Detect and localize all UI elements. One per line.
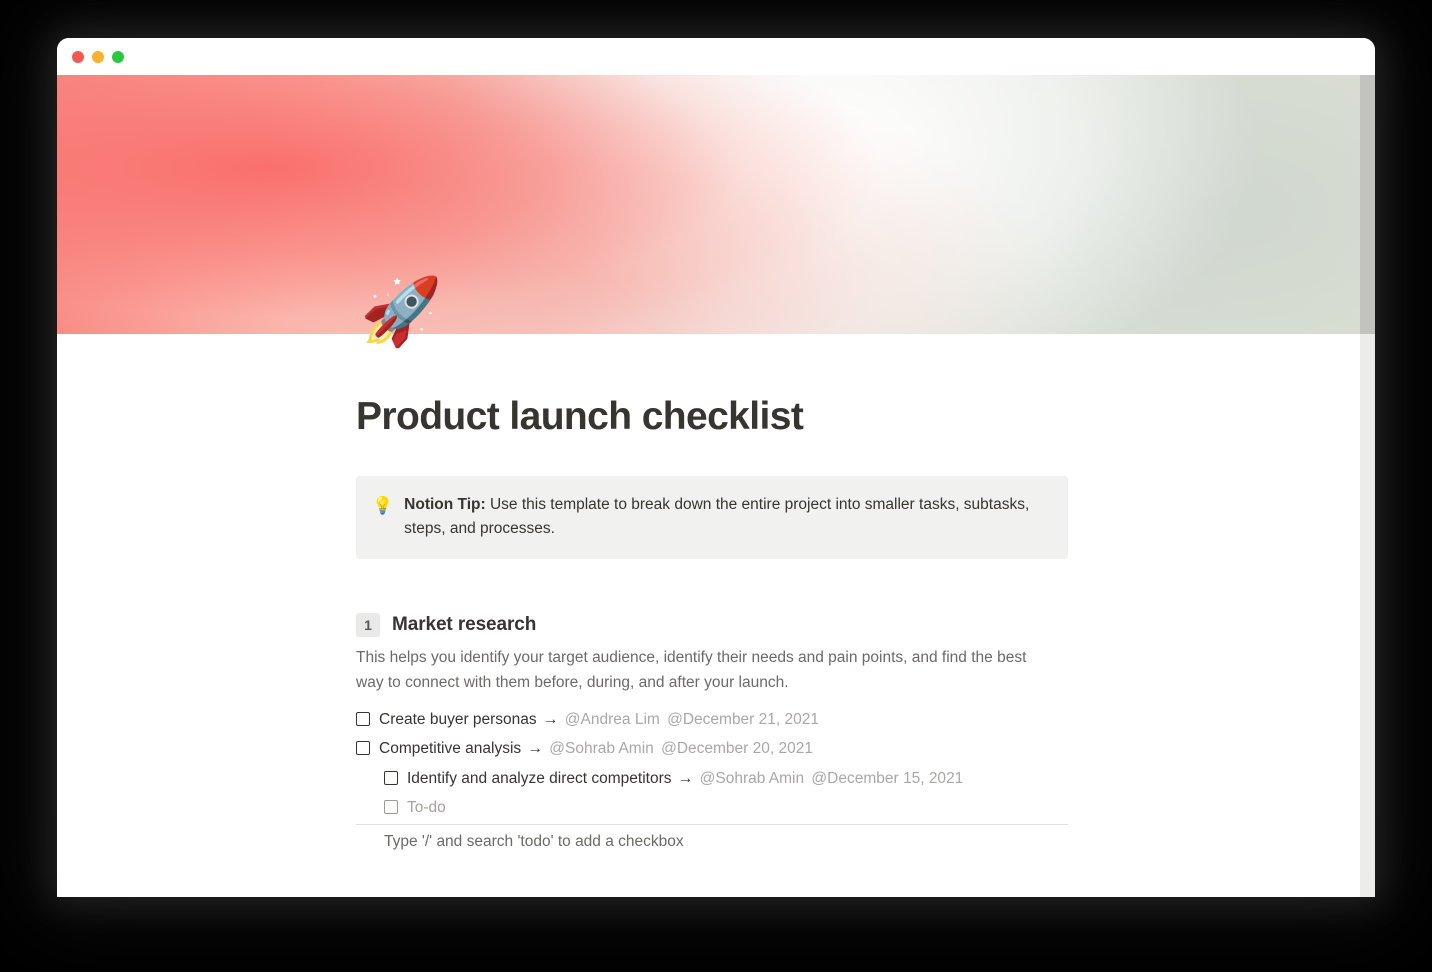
desktop-backdrop: 🚀 Product launch checklist 💡 Notion Tip:… bbox=[0, 0, 1432, 972]
section-header: 1 Market research bbox=[356, 613, 1068, 637]
maximize-window-button[interactable] bbox=[112, 51, 124, 63]
todo-checkbox[interactable] bbox=[356, 712, 370, 726]
todo-label: To-do bbox=[407, 799, 446, 816]
todo-item-nested[interactable]: Identify and analyze direct competitors … bbox=[384, 764, 1068, 793]
page-cover-image[interactable] bbox=[57, 75, 1375, 334]
arrow-icon: → bbox=[678, 770, 694, 787]
todo-item[interactable]: Create buyer personas → @Andrea Lim @Dec… bbox=[356, 705, 1068, 734]
todo-checkbox[interactable] bbox=[384, 800, 398, 814]
vertical-scrollbar-thumb[interactable] bbox=[1360, 75, 1375, 334]
vertical-scrollbar-track[interactable] bbox=[1360, 75, 1375, 897]
browser-window: 🚀 Product launch checklist 💡 Notion Tip:… bbox=[57, 38, 1375, 897]
page-content: Product launch checklist 💡 Notion Tip: U… bbox=[356, 395, 1068, 853]
section-number-badge: 1 bbox=[356, 613, 380, 637]
lightbulb-emoji: 💡 bbox=[372, 493, 393, 519]
callout-label: Notion Tip: bbox=[404, 496, 486, 513]
todo-label: Identify and analyze direct competitors bbox=[407, 770, 672, 787]
todo-label: Competitive analysis bbox=[379, 740, 521, 757]
todo-item[interactable]: Competitive analysis → @Sohrab Amin @Dec… bbox=[356, 734, 1068, 763]
mention-person[interactable]: @Sohrab Amin bbox=[549, 740, 653, 757]
todo-row-text: To-do bbox=[407, 796, 446, 819]
section-divider bbox=[356, 824, 1068, 825]
notion-tip-callout[interactable]: 💡 Notion Tip: Use this template to break… bbox=[356, 476, 1068, 559]
mention-person[interactable]: @Andrea Lim bbox=[565, 711, 660, 728]
todo-hint-text: Type '/' and search 'todo' to add a chec… bbox=[384, 830, 1068, 853]
mention-date[interactable]: @December 20, 2021 bbox=[661, 740, 813, 757]
page-title[interactable]: Product launch checklist bbox=[356, 395, 1068, 440]
callout-text: Notion Tip: Use this template to break d… bbox=[404, 493, 1050, 541]
todo-checkbox[interactable] bbox=[384, 771, 398, 785]
mention-date[interactable]: @December 15, 2021 bbox=[811, 770, 963, 787]
callout-body: Use this template to break down the enti… bbox=[404, 496, 1029, 537]
section-title[interactable]: Market research bbox=[392, 614, 536, 636]
rocket-emoji[interactable]: 🚀 bbox=[360, 278, 442, 344]
todo-list: Create buyer personas → @Andrea Lim @Dec… bbox=[356, 705, 1068, 822]
todo-row-text: Identify and analyze direct competitors … bbox=[407, 767, 963, 790]
section-description[interactable]: This helps you identify your target audi… bbox=[356, 645, 1046, 695]
arrow-icon: → bbox=[527, 740, 543, 757]
window-titlebar bbox=[57, 38, 1375, 75]
todo-checkbox[interactable] bbox=[356, 741, 370, 755]
traffic-light-group bbox=[72, 51, 124, 63]
page-body: 🚀 Product launch checklist 💡 Notion Tip:… bbox=[57, 334, 1375, 897]
todo-item-placeholder[interactable]: To-do bbox=[384, 793, 1068, 822]
minimize-window-button[interactable] bbox=[92, 51, 104, 63]
todo-row-text: Create buyer personas → @Andrea Lim @Dec… bbox=[379, 708, 819, 731]
mention-date[interactable]: @December 21, 2021 bbox=[667, 711, 819, 728]
todo-label: Create buyer personas bbox=[379, 711, 537, 728]
section-market-research: 1 Market research This helps you identif… bbox=[356, 613, 1068, 853]
todo-row-text: Competitive analysis → @Sohrab Amin @Dec… bbox=[379, 737, 813, 760]
close-window-button[interactable] bbox=[72, 51, 84, 63]
arrow-icon: → bbox=[543, 711, 559, 728]
mention-person[interactable]: @Sohrab Amin bbox=[700, 770, 804, 787]
